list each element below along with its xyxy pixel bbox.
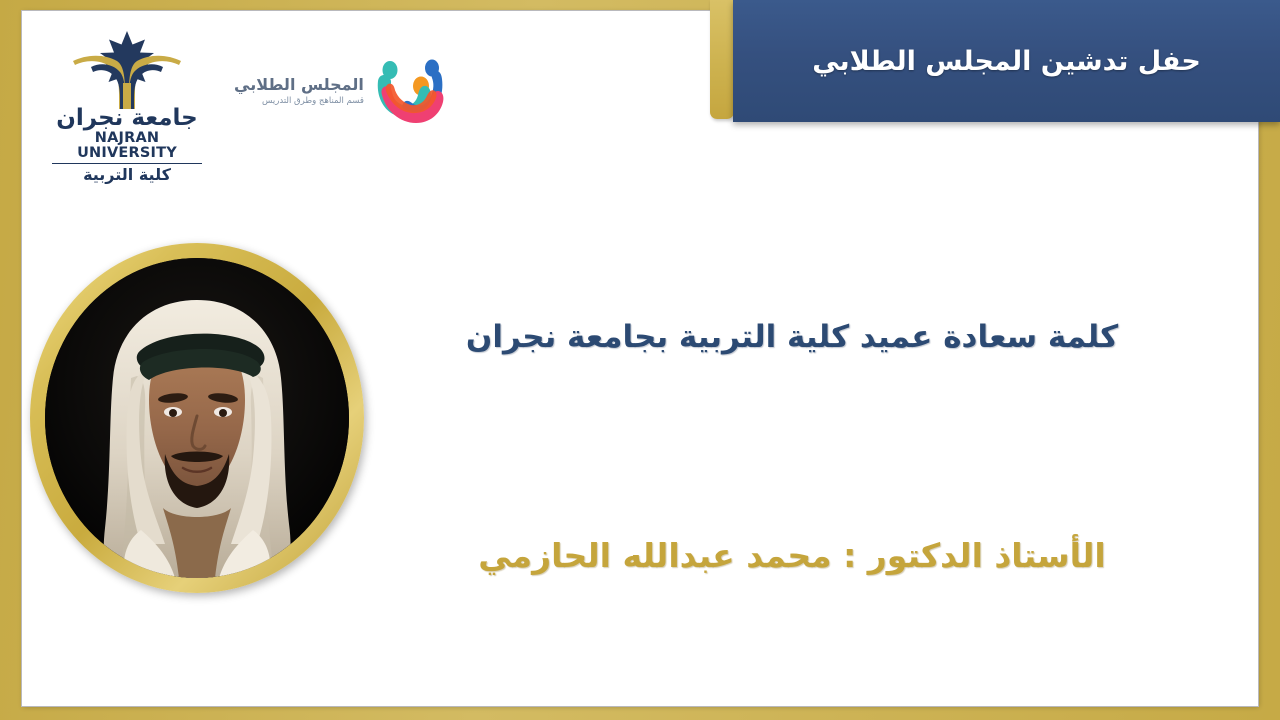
najran-university-name-ar: جامعة نجران (52, 107, 202, 130)
najran-university-crest-icon (52, 31, 202, 109)
speaker-name: الأستاذ الدكتور : محمد عبدالله الحازمي (377, 536, 1207, 575)
student-council-logo: المجلس الطلابي قسم المناهج وطرق التدريس (234, 25, 450, 127)
najran-university-name-en: NAJRAN UNIVERSITY (52, 131, 202, 164)
header-banner: حفل تدشين المجلس الطلابي (710, 0, 1280, 122)
person-portrait-icon (45, 258, 349, 578)
student-council-subtitle: قسم المناهج وطرق التدريس (234, 96, 364, 106)
presentation-slide: جامعة نجران NAJRAN UNIVERSITY كلية الترب… (0, 0, 1280, 720)
student-council-people-icon (372, 55, 450, 127)
student-council-text: المجلس الطلابي قسم المناهج وطرق التدريس (234, 76, 364, 107)
header-navy-panel: حفل تدشين المجلس الطلابي (733, 0, 1280, 122)
header-title: حفل تدشين المجلس الطلابي (812, 46, 1201, 77)
student-council-title: المجلس الطلابي (234, 76, 364, 94)
najran-university-logo: جامعة نجران NAJRAN UNIVERSITY كلية الترب… (52, 25, 202, 184)
speaker-portrait (30, 243, 364, 593)
logo-row: جامعة نجران NAJRAN UNIVERSITY كلية الترب… (52, 25, 450, 184)
header-gold-accent (710, 0, 734, 119)
header-title-wrap: حفل تدشين المجلس الطلابي (733, 46, 1280, 77)
najran-college-name-ar: كلية التربية (52, 166, 202, 184)
slide-heading: كلمة سعادة عميد كلية التربية بجامعة نجرا… (377, 319, 1207, 355)
